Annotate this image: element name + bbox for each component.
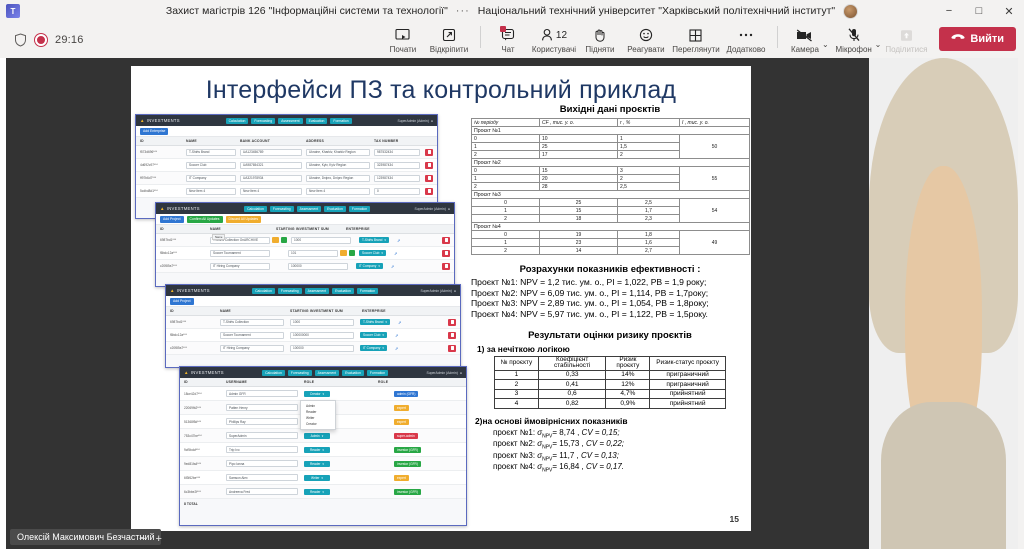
th-risk-status: Ризик-статус проєкту [650, 356, 726, 370]
th-name: NAME [210, 227, 276, 231]
building-icon: ▲ [140, 118, 145, 123]
nav-calculation[interactable]: Calculation [262, 370, 285, 376]
cell-sum-input[interactable]: 1000 [291, 237, 351, 244]
nav-formation[interactable]: Formation [349, 206, 370, 212]
cell-stability: 0,41 [538, 380, 606, 390]
teams-logo-icon: T [6, 4, 20, 18]
more-button[interactable]: Додатково [721, 27, 771, 55]
delete-row-button[interactable] [442, 237, 450, 244]
nav-evaluation[interactable]: Evaluation [342, 370, 364, 376]
cell-id: 753c47be*** [184, 434, 226, 438]
table-row[interactable]: f8bdc12a*** Soccer Tournament 100000000 … [166, 329, 460, 342]
delete-row-button[interactable] [425, 188, 433, 195]
react-button[interactable]: Реагувати [621, 27, 671, 55]
cell-investment: 55 [680, 167, 750, 191]
table-row[interactable]: c20f89a7*** IT Hiring Company 100000 IT … [166, 342, 460, 355]
prob-line: проєкт №1: σNPV= 8,74 , CV = 0,15; [493, 428, 749, 440]
nav-formation[interactable]: Formation [357, 288, 378, 294]
start-share-button[interactable]: Почати [382, 27, 424, 55]
th-role: ROLE [304, 380, 378, 384]
share-screen-icon [395, 27, 410, 44]
maximize-button[interactable]: □ [964, 0, 994, 22]
mock-user[interactable]: SuperAdmin (Admin)● [426, 371, 462, 375]
th-role-badge: ROLE [378, 380, 388, 384]
cell-name-input[interactable]: T-Shirts Brand [186, 149, 236, 156]
cell-status: приграничний [650, 380, 726, 390]
table-row[interactable]: ff97b6d7*** IT Company UA321978934 Ukrai… [136, 172, 437, 185]
cell-risk: 4,7% [606, 389, 650, 399]
cell-address-input[interactable]: Ukraine, Kharkiv, Kharkiv Region [306, 149, 370, 156]
cell-period: 0 [472, 199, 540, 207]
cell-username-input[interactable]: Pipo Ianna [226, 460, 298, 467]
table-row[interactable]: 6c3bbe2f*** Andreeva Fred Reader▾ invest… [180, 485, 466, 499]
group-row: Проєкт №4 [472, 223, 750, 231]
delete-row-button[interactable] [425, 162, 433, 169]
mock-header: ▲INVESTMENTS Calculation Forecasting Ass… [156, 203, 454, 214]
table-row: 0252,554 [472, 199, 750, 207]
delete-row-button[interactable] [442, 250, 450, 257]
group-row: Проєкт №3 [472, 191, 750, 199]
shared-content-area[interactable]: Інтерфейси ПЗ та контрольний приклад ▲IN… [0, 58, 869, 549]
cell-username-input[interactable]: SuperAdmin [226, 432, 298, 439]
mock-user[interactable]: SuperAdmin (Admin)● [414, 207, 450, 211]
hangup-icon [951, 33, 965, 45]
cell-bank-input[interactable]: UA321978934 [240, 175, 302, 182]
unpin-label: Відкріпити [430, 45, 468, 54]
table-row[interactable]: 9cf5bdcf*** Trip Ivo Reader▾ investor (G… [180, 443, 466, 457]
cell-name-input[interactable]: T-Shirts Collection [220, 319, 284, 326]
nav-assessment[interactable]: Assessment [278, 118, 302, 124]
delete-row-button[interactable] [448, 319, 456, 326]
th-sum: STARTING INVESTMENT SUM [290, 309, 362, 313]
cell-cf: 28 [540, 183, 618, 191]
table-row[interactable]: 6987bd1*** T-Shirts Collection 1000 T-Sh… [166, 316, 460, 329]
mock-brand: ▲INVESTMENTS [140, 118, 180, 123]
cell-address-input[interactable]: Ukraine, Kyiv, Kyiv Region [306, 162, 370, 169]
shared-screen: Інтерфейси ПЗ та контрольний приклад ▲IN… [6, 58, 869, 549]
nav-evaluation[interactable]: Evaluation [332, 288, 354, 294]
participants-button[interactable]: 12 Користувачі [529, 27, 579, 55]
delete-row-button[interactable] [425, 175, 433, 182]
cell-id: 51368f5d*** [184, 420, 226, 424]
cell-address-input[interactable]: Ukraine, Dnipro, Dnipro Region [306, 175, 370, 182]
cell-sum-input[interactable]: 100000000 [290, 332, 354, 339]
cell-cf: 19 [540, 231, 618, 239]
cell-sum-input[interactable]: 101 [288, 250, 338, 257]
th-i: I , тис. у. о. [680, 119, 750, 127]
mock-window-users[interactable]: ▲INVESTMENTS Calculation Forecasting Ass… [179, 366, 467, 526]
cell-username-input[interactable]: Patten Henry [226, 404, 298, 411]
raise-hand-label: Підняти [585, 45, 614, 54]
cell-id: c20f89a7*** [160, 264, 210, 268]
confirm-icon[interactable] [281, 237, 288, 244]
cell-id: ff97b6d7*** [140, 176, 186, 180]
toolbar-left: 29:16 [8, 33, 84, 47]
mock-user[interactable]: SuperAdmin (Admin)● [397, 119, 433, 123]
cell-period: 1 [472, 143, 540, 151]
th-id: ID [140, 139, 186, 143]
efficiency-line: Проєкт №4: NPV = 5,97 тис. ум. о., PI = … [471, 309, 749, 319]
table-row: 40,820,9%прийнятний [495, 399, 726, 409]
cell-tax-input[interactable]: 0 [374, 188, 420, 195]
nav-assessment[interactable]: Assessment [315, 370, 339, 376]
react-label: Реагувати [627, 45, 664, 54]
cell-period: 2 [472, 183, 540, 191]
cell-stability: 0,6 [538, 389, 606, 399]
enterprise-select[interactable]: IT Company▾ [356, 263, 383, 269]
raise-hand-button[interactable]: Підняти [579, 27, 621, 55]
slide-number: 15 [730, 514, 739, 524]
cell-no: 1 [495, 370, 539, 380]
cell-id: f8bdc12a*** [170, 333, 220, 337]
cell-id: f573d696*** [140, 150, 186, 154]
mock-user[interactable]: SuperAdmin (Admin)● [420, 289, 456, 293]
cell-investment: 49 [680, 231, 750, 255]
cell-stability: 0,33 [538, 370, 606, 380]
table-row: 010150 [472, 135, 750, 143]
organization-name: Національний технічний університет "Харк… [478, 5, 835, 17]
role-badge: investor (GFR) [394, 461, 421, 467]
nav-calculation[interactable]: Calculation [252, 288, 275, 294]
camera-button[interactable]: Камера [784, 27, 826, 55]
shield-icon [14, 33, 27, 47]
more-icon [738, 27, 754, 44]
cell-bank-input[interactable]: UA987654321 [240, 162, 302, 169]
enterprise-select[interactable]: Soccer Club▾ [360, 332, 387, 338]
discard-updates-button[interactable]: Discard All Updates [226, 216, 262, 223]
table-header-row: № періоду CF , тис. у. о. r , % I , тис.… [472, 119, 750, 127]
cell-r: 2 [618, 151, 680, 159]
cell-name-input[interactable]: New Item 4 [186, 188, 236, 195]
cell-status: прийнятний [650, 389, 726, 399]
camera-off-icon [796, 27, 813, 44]
mock-toolbar-3: Add Project [166, 296, 460, 307]
role-badge: investor (GFR) [394, 489, 421, 495]
chat-icon [501, 27, 515, 44]
edit-icon[interactable] [272, 237, 279, 244]
cell-username-input[interactable]: Samson Alex [226, 474, 298, 481]
cell-bank-input[interactable]: UA123456789 [240, 149, 302, 156]
table-row[interactable]: 18ce42d7*** Admin GFR Creator▾ admin (GF… [180, 387, 466, 401]
cell-bank-input[interactable]: New Item 4 [240, 188, 302, 195]
link-icon[interactable]: ⇗ [398, 320, 401, 325]
mock-table-header-2: ID NAME STARTING INVESTMENT SUM ENTERPRI… [156, 225, 454, 234]
meeting-title: Захист магістрів 126 "Інформаційні систе… [166, 5, 448, 17]
share-content-button[interactable]: Поділитися [881, 27, 931, 55]
cell-risk: 14% [606, 370, 650, 380]
table-row[interactable]: c20f89a7*** IT Hiring Company 100000 IT … [156, 260, 454, 273]
cell-r: 2 [618, 175, 680, 183]
table-row: 10,3314%приграничний [495, 370, 726, 380]
slide-title: Інтерфейси ПЗ та контрольний приклад [131, 76, 751, 105]
share-content-label: Поділитися [885, 45, 927, 54]
slide-right-column: Вихідні дані проєктів № періоду CF , тис… [471, 104, 749, 474]
mock-header: ▲INVESTMENTS Calculation Forecasting Ass… [166, 285, 460, 296]
chat-button[interactable]: Чат [487, 27, 529, 55]
link-icon[interactable]: ⇗ [395, 333, 398, 338]
user-icon: ● [460, 371, 462, 375]
delete-row-button[interactable] [442, 263, 450, 270]
nav-forecasting[interactable]: Forecasting [288, 370, 312, 376]
cell-risk: 0,9% [606, 399, 650, 409]
cell-id: 6f3f62be*** [184, 476, 226, 480]
presentation-slide: Інтерфейси ПЗ та контрольний приклад ▲IN… [131, 66, 751, 531]
cell-name-input[interactable]: Soccer Tournament [210, 250, 270, 257]
th-enterprise: ENTERPRISE [362, 309, 422, 313]
teams-meeting-window: T Захист магістрів 126 "Інформаційні сис… [0, 0, 1024, 549]
cell-period: 2 [472, 247, 540, 255]
cell-period: 0 [472, 135, 540, 143]
mock-table-header-4: ID USERNAME ROLE ROLE [180, 378, 466, 387]
role-select[interactable]: Reader▾ [304, 447, 330, 453]
delete-row-button[interactable] [448, 332, 456, 339]
edit-icon[interactable] [340, 250, 347, 257]
mic-off-icon [848, 27, 860, 44]
chat-label: Чат [501, 45, 514, 54]
table-row: 20,4112%приграничний [495, 380, 726, 390]
cell-id: 6987bd1*** [160, 238, 210, 242]
view-grid-icon [689, 27, 702, 44]
camera-label: Камера [791, 45, 819, 54]
cell-no: 3 [495, 389, 539, 399]
risk-heading: Результати оцінки ризику проєктів [471, 330, 749, 341]
mic-label: Мікрофон [836, 45, 872, 54]
toolbar-divider [480, 26, 481, 48]
table-row[interactable]: 5cdbd8d1*** New Item 4 New Item 4 New It… [136, 185, 437, 198]
mock-brand: ▲INVESTMENTS [170, 288, 210, 293]
th-id: ID [184, 380, 226, 384]
cell-period: 2 [472, 215, 540, 223]
cell-period: 1 [472, 175, 540, 183]
role-dropdown-menu[interactable]: Admin Reader Writer Creator [300, 400, 336, 430]
cell-investment: 50 [680, 135, 750, 159]
cell-r: 2,5 [618, 183, 680, 191]
table-row[interactable]: 9ed81fa4*** Pipo Ianna Reader▾ investor … [180, 457, 466, 471]
cell-cf: 15 [540, 207, 618, 215]
cell-risk: 12% [606, 380, 650, 390]
mock-nav: Calculation Forecasting Assessment Evalu… [262, 370, 388, 376]
nav-calculation[interactable]: Calculation [244, 206, 267, 212]
group-row: Проєкт №1 [472, 127, 750, 135]
cell-r: 3 [618, 167, 680, 175]
mock-header: ▲INVESTMENTS Calculation Forecasting Ass… [180, 367, 466, 378]
add-project-button[interactable]: Add Project [160, 216, 184, 223]
cell-username-input[interactable]: Admin GFR [226, 390, 298, 397]
cell-tax-input[interactable]: 323987434 [374, 162, 420, 169]
avatar [928, 458, 960, 490]
enterprise-select[interactable]: Soccer Club▾ [359, 250, 386, 256]
cell-no: 2 [495, 380, 539, 390]
confirm-icon[interactable] [349, 250, 356, 257]
users-total: 8 TOTAL [180, 499, 466, 509]
nav-calculation[interactable]: Calculation [226, 118, 249, 124]
cell-stability: 0,82 [538, 399, 606, 409]
chat-unread-badge [500, 26, 506, 32]
avatar[interactable] [843, 4, 858, 19]
nav-formation[interactable]: Formation [330, 118, 351, 124]
minimize-button[interactable]: − [934, 0, 964, 22]
user-icon: ● [448, 207, 450, 211]
role-badge: expert [394, 419, 409, 425]
cell-r: 2,3 [618, 215, 680, 223]
mic-button[interactable]: Мікрофон [829, 27, 879, 55]
delete-row-button[interactable] [448, 345, 456, 352]
enterprise-select[interactable]: T-Shirts Brand▾ [359, 237, 389, 243]
enterprise-select[interactable]: T-Shirts Brand▾ [360, 319, 390, 325]
cell-cf: 15 [540, 167, 618, 175]
cell-sum-input[interactable]: 100000 [288, 263, 348, 270]
participants-rail: Олексій Максимович Безчастний Ольга Юріï… [869, 58, 1018, 549]
zoom-controls[interactable]: − + [139, 533, 162, 545]
cell-r: 1,5 [618, 143, 680, 151]
cell-cf: 20 [540, 175, 618, 183]
efficiency-line: Проєкт №1: NPV = 1,2 тис. ум. о., PI = 1… [471, 277, 749, 287]
link-icon[interactable]: ⇗ [394, 251, 397, 256]
cell-r: 1,6 [618, 239, 680, 247]
efficiency-line: Проєкт №2: NPV = 6,09 тис. ум. о., PI = … [471, 288, 749, 298]
mock-window-projects[interactable]: ▲INVESTMENTS Calculation Forecasting Ass… [165, 284, 461, 368]
nav-forecasting[interactable]: Forecasting [251, 118, 275, 124]
window-controls: − □ ✕ [934, 0, 1024, 22]
table-row[interactable]: f8bdc12a*** Soccer Tournament 101 Soccer… [156, 247, 454, 260]
cell-name-input[interactable]: Soccer Club [186, 162, 236, 169]
link-icon[interactable]: ⇗ [391, 264, 394, 269]
add-project-button[interactable]: Add Project [170, 298, 194, 305]
cell-period: 1 [472, 239, 540, 247]
nav-assessment[interactable]: Assessment [297, 206, 321, 212]
zoom-out-button[interactable]: − [139, 533, 145, 545]
link-icon[interactable]: ⇗ [395, 346, 398, 351]
cell-no: 4 [495, 399, 539, 409]
cell-period: 0 [472, 231, 540, 239]
toolbar-divider-2 [777, 26, 778, 48]
role-select[interactable]: Reader▾ [304, 461, 330, 467]
cell-sum-input[interactable]: 1000 [290, 319, 354, 326]
role-badge: super-admin [394, 433, 418, 439]
participants-grid: Ольга Юріï... 🔇 Валентина ... [869, 240, 1018, 490]
table-row[interactable]: Name 6987bd1*** T-Shirts Collection OnAR… [156, 234, 454, 247]
role-select[interactable]: Reader▾ [304, 489, 330, 495]
nav-evaluation[interactable]: Evaluation [306, 118, 328, 124]
mock-nav: Calculation Forecasting Assessment Evalu… [252, 288, 378, 294]
cell-cf: 25 [540, 143, 618, 151]
cell-id: 4d692c97*** [140, 163, 186, 167]
mock-window-projects-edit[interactable]: ▲INVESTMENTS Calculation Forecasting Ass… [155, 202, 455, 287]
cell-tax-input[interactable]: 123987434 [374, 175, 420, 182]
nav-assessment[interactable]: Assessment [305, 288, 329, 294]
enterprise-select[interactable]: IT Company▾ [360, 345, 387, 351]
delete-row-button[interactable] [425, 149, 433, 156]
mock-nav: Calculation Forecasting Assessment Evalu… [244, 206, 370, 212]
table-row: 0191,849 [472, 231, 750, 239]
cell-cf: 18 [540, 215, 618, 223]
th-bank: BANK ACCOUNT [240, 139, 306, 143]
title-overflow-icon[interactable]: ··· [456, 5, 470, 17]
cell-id: 18ce42d7*** [184, 392, 226, 396]
risk-table: № проєкту Коефіцієнт стабільності Ризик … [494, 356, 726, 409]
participants-count: 12 [556, 30, 567, 41]
role-badge: expert [394, 405, 409, 411]
mock-nav: Calculation Forecasting Assessment Evalu… [226, 118, 352, 124]
cell-id: 22069fb2*** [184, 406, 226, 410]
name-tooltip: Name [212, 234, 225, 240]
cell-name-input[interactable]: IT Hiring Company [210, 263, 270, 270]
table-row[interactable]: 4d692c97*** Soccer Club UA987654321 Ukra… [136, 159, 437, 172]
cell-name-input[interactable]: IT Hiring Company [220, 345, 284, 352]
th-username: USERNAME [226, 380, 304, 384]
th-cf: CF , тис. у. о. [540, 119, 618, 127]
nav-formation[interactable]: Formation [367, 370, 388, 376]
extra-participant-tile[interactable] [873, 450, 1014, 490]
cell-username-input[interactable]: Andreeva Fred [226, 488, 298, 495]
risk-section: Результати оцінки ризику проєктів 1) за … [471, 330, 749, 474]
meeting-toolbar: 29:16 Почати Відкріпити [0, 22, 1024, 58]
close-button[interactable]: ✕ [994, 0, 1024, 22]
nav-forecasting[interactable]: Forecasting [278, 288, 302, 294]
nav-evaluation[interactable]: Evaluation [324, 206, 346, 212]
cell-username-input[interactable]: Trip Ivo [226, 446, 298, 453]
zoom-in-button[interactable]: + [155, 533, 161, 545]
confirm-updates-button[interactable]: Confirm All Updates [187, 216, 223, 223]
role-select[interactable]: Creator▾ [304, 391, 330, 397]
leave-button[interactable]: Вийти [939, 27, 1016, 51]
cell-status: прийнятний [650, 399, 726, 409]
toolbar-actions: Почати Відкріпити Чат 12 [382, 26, 1016, 55]
link-icon[interactable]: ⇗ [397, 238, 400, 243]
meeting-stage: Інтерфейси ПЗ та контрольний приклад ▲IN… [0, 58, 1024, 549]
cell-address-input[interactable]: New Item 4 [306, 188, 370, 195]
th-id: ID [160, 227, 210, 231]
table-row[interactable]: 6f3f62be*** Samson Alex Writer▾ expert [180, 471, 466, 485]
add-enterprise-button[interactable]: Add Enterprise [140, 128, 168, 135]
mock-toolbar-2: Add Project Confirm All Updates Discard … [156, 214, 454, 225]
more-label: Додатково [726, 45, 765, 54]
cell-tax-input[interactable]: 987532434 [374, 149, 420, 156]
title-bar-center: Захист магістрів 126 "Інформаційні систе… [0, 4, 1024, 19]
view-button[interactable]: Переглянути [671, 27, 721, 55]
cell-id: 6c3bbe2f*** [184, 490, 226, 494]
role-select[interactable]: Writer▾ [304, 475, 330, 481]
table-row[interactable]: 753c47be*** SuperAdmin Admin▾ super-admi… [180, 429, 466, 443]
prob-line: проєкт №2: σNPV= 15,73 , CV = 0,22; [493, 439, 749, 451]
cell-id: 9ed81fa4*** [184, 462, 226, 466]
cell-id: 5cdbd8d1*** [140, 189, 186, 193]
recording-icon [35, 34, 47, 46]
cell-id: f8bdc12a*** [160, 251, 210, 255]
cell-name-input[interactable]: IT Company [186, 175, 236, 182]
people-icon: 12 [541, 27, 567, 44]
cell-username-input[interactable]: Phillips Ray [226, 418, 298, 425]
dropdown-item-creator[interactable]: Creator [301, 421, 335, 427]
leave-label: Вийти [970, 33, 1004, 45]
role-select[interactable]: Admin▾ [304, 433, 330, 439]
mock-toolbar-1: Add Enterprise [136, 126, 437, 137]
th-address: ADDRESS [306, 139, 374, 143]
raise-hand-icon [593, 27, 606, 44]
cell-sum-input[interactable]: 100000 [290, 345, 354, 352]
cell-name-input[interactable]: Soccer Tournament [220, 332, 284, 339]
table-row[interactable]: f573d696*** T-Shirts Brand UA123456789 U… [136, 146, 437, 159]
nav-forecasting[interactable]: Forecasting [270, 206, 294, 212]
react-icon [639, 27, 653, 44]
table-row: 30,64,7%прийнятний [495, 389, 726, 399]
group-label: Проєкт №2 [472, 159, 750, 167]
mock-brand: ▲INVESTMENTS [184, 370, 224, 375]
unpin-button[interactable]: Відкріпити [424, 27, 474, 55]
th-enterprise: ENTERPRISE [346, 227, 406, 231]
source-data-heading: Вихідні дані проєктів [471, 104, 749, 115]
cell-r: 1,7 [618, 207, 680, 215]
